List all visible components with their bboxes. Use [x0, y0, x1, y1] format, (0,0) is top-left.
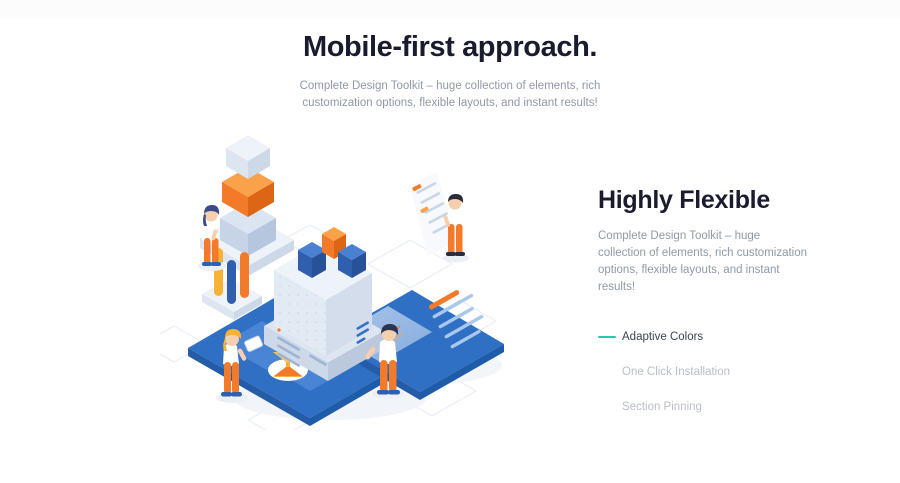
feature-item-label: Adaptive Colors — [622, 331, 703, 343]
feature-section: Highly Flexible Complete Design Toolkit … — [598, 185, 808, 429]
feature-title: Highly Flexible — [598, 185, 808, 215]
feature-item-label: Section Pinning — [622, 401, 702, 413]
feature-subtitle: Complete Design Toolkit – huge collectio… — [598, 228, 808, 296]
feature-item-section-pinning[interactable]: Section Pinning — [598, 394, 808, 419]
isometric-dashboard-illustration — [160, 130, 510, 430]
active-indicator-line — [598, 371, 616, 373]
active-indicator-line — [598, 336, 616, 338]
active-indicator-line — [598, 406, 616, 408]
top-band — [0, 0, 900, 18]
feature-list: Adaptive Colors One Click Installation S… — [598, 324, 808, 419]
feature-item-adaptive-colors[interactable]: Adaptive Colors — [598, 324, 808, 349]
hero-subtitle: Complete Design Toolkit – huge collectio… — [280, 78, 620, 112]
feature-item-one-click-installation[interactable]: One Click Installation — [598, 359, 808, 384]
page-title: Mobile-first approach. — [0, 30, 900, 64]
feature-item-label: One Click Installation — [622, 366, 730, 378]
hero-section: Mobile-first approach. Complete Design T… — [0, 30, 900, 112]
